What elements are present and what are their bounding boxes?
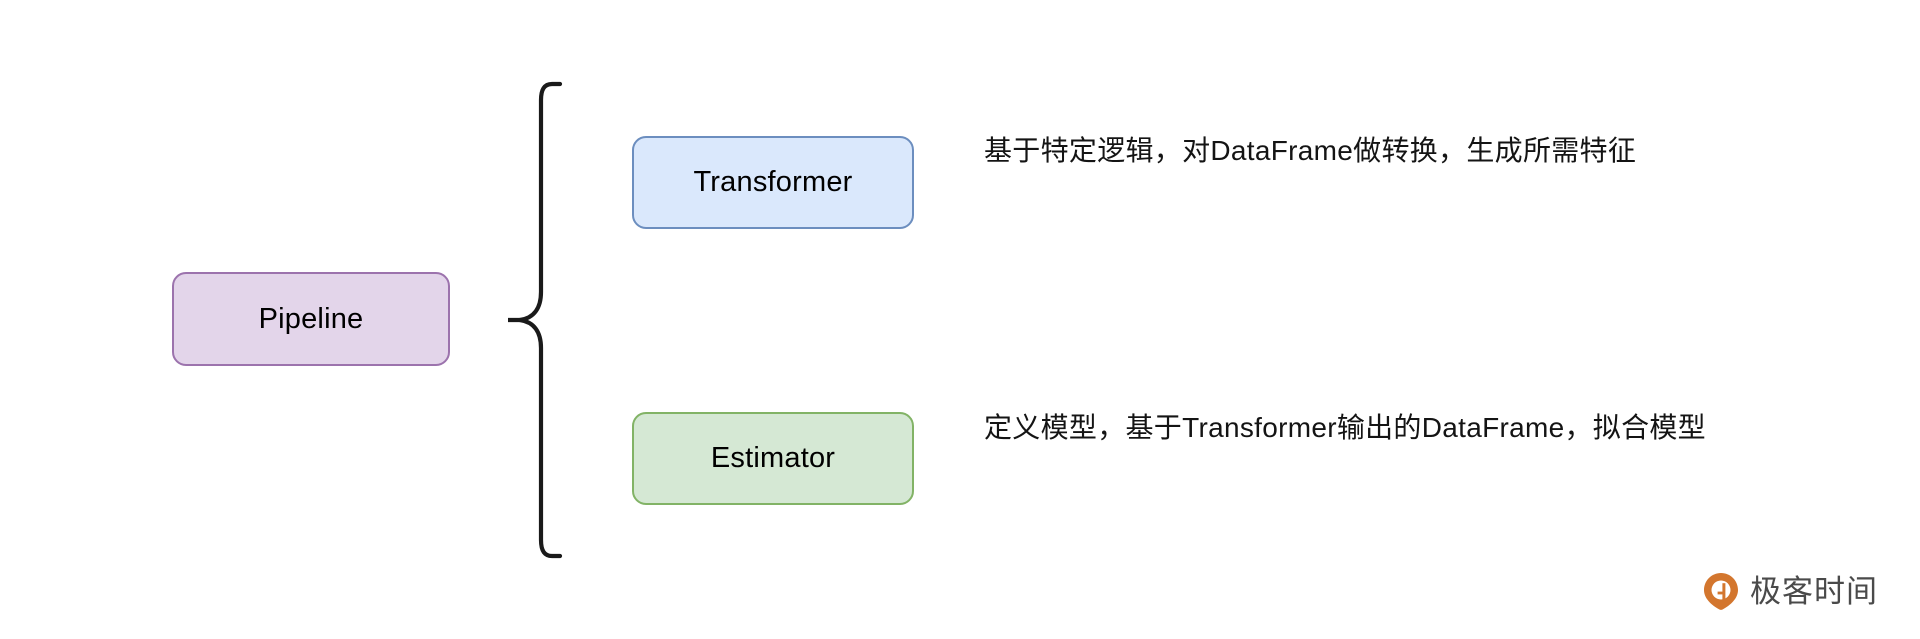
node-pipeline-label: Pipeline — [259, 305, 364, 334]
node-transformer[interactable]: Transformer — [632, 136, 914, 229]
description-transformer: 基于特定逻辑，对DataFrame做转换，生成所需特征 — [984, 134, 1636, 168]
node-estimator-label: Estimator — [711, 444, 835, 473]
node-pipeline[interactable]: Pipeline — [172, 272, 450, 366]
geektime-logo-svg — [1701, 571, 1741, 611]
curly-brace-icon — [508, 80, 578, 560]
curly-brace-svg — [508, 80, 578, 560]
node-transformer-label: Transformer — [693, 168, 852, 197]
node-estimator[interactable]: Estimator — [632, 412, 914, 505]
description-estimator: 定义模型，基于Transformer输出的DataFrame，拟合模型 — [984, 411, 1706, 445]
geektime-logo-icon — [1701, 571, 1741, 611]
watermark-logo: 极客时间 — [1701, 571, 1878, 611]
watermark-text: 极客时间 — [1750, 576, 1878, 607]
diagram-canvas: Pipeline Transformer 基于特定逻辑，对DataFrame做转… — [0, 0, 1920, 639]
